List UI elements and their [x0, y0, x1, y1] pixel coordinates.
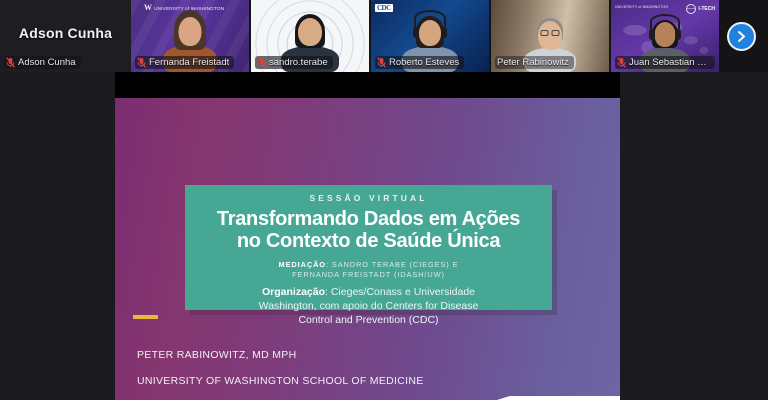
nametag-label: Roberto Esteves — [389, 57, 459, 68]
nametag: Juan Sebastian Osorio Vale... — [615, 56, 715, 69]
shared-screen-area: SESSÃO VIRTUAL Transformando Dados em Aç… — [0, 72, 768, 400]
slide-mediacao: MEDIAÇÃO: SANDRO TERABE (CIEGES) E FERNA… — [185, 260, 552, 280]
glasses-icon — [541, 30, 560, 36]
nametag-label: Peter Rabinowitz — [497, 57, 569, 68]
participant-filmstrip: Adson Cunha Adson Cunha W UNIVERSITY of … — [0, 0, 768, 72]
mic-muted-icon — [137, 57, 146, 68]
university-logo-text: UNIVERSITY of WASHINGTON — [615, 5, 668, 9]
accent-dash — [133, 315, 158, 319]
participant-tile-juan-sebastian-osorio[interactable]: I-TECH UNIVERSITY of WASHINGTON Juan Seb… — [611, 0, 719, 72]
slide-organizacao-line-3: Control and Prevention (CDC) — [185, 314, 552, 328]
nametag-label: Adson Cunha — [18, 57, 76, 68]
participant-tile-sandro-terabe[interactable]: sandro.terabe — [251, 0, 369, 72]
slide-kicker: SESSÃO VIRTUAL — [185, 193, 552, 203]
chevron-right-icon — [736, 30, 747, 43]
slide-title-line-1: Transformando Dados em Ações — [185, 208, 552, 230]
itech-logo-icon: I-TECH — [686, 4, 715, 14]
nametag: Adson Cunha — [4, 56, 81, 69]
nametag: Fernanda Freistadt — [135, 56, 234, 69]
participant-tile-fernanda-freistadt[interactable]: W UNIVERSITY of WASHINGTON Fernanda Frei… — [131, 0, 249, 72]
participant-tile-peter-rabinowitz[interactable]: Peter Rabinowitz — [491, 0, 609, 72]
headset-icon — [650, 14, 680, 29]
slide-byline: PETER RABINOWITZ, MD MPH UNIVERSITY OF W… — [137, 343, 424, 400]
itech-logo-text: I-TECH — [698, 6, 715, 12]
w-glyph-icon: W — [144, 4, 152, 12]
organizacao-text-1: : Cieges/Conass e Universidade — [325, 286, 475, 298]
filmstrip-next-page-button[interactable] — [727, 22, 756, 51]
shared-screen-letterbox — [115, 72, 620, 98]
self-view-tile[interactable]: Adson Cunha Adson Cunha — [0, 0, 131, 72]
slide-organizacao-line-1: Organização: Cieges/Conass e Universidad… — [185, 286, 552, 300]
presentation-slide[interactable]: SESSÃO VIRTUAL Transformando Dados em Aç… — [115, 98, 620, 400]
slide-title-line-2: no Contexto de Saúde Única — [185, 230, 552, 252]
slide-mediacao-line-1: MEDIAÇÃO: SANDRO TERABE (CIEGES) E — [185, 260, 552, 270]
self-view-display-name: Adson Cunha — [19, 25, 112, 41]
slide-affiliation: UNIVERSITY OF WASHINGTON SCHOOL OF MEDIC… — [137, 369, 424, 395]
nametag-label: sandro.terabe — [269, 57, 328, 68]
nametag: Roberto Esteves — [375, 56, 464, 69]
mic-muted-icon — [6, 57, 15, 68]
slide-footer-swoosh — [330, 396, 620, 400]
nametag: sandro.terabe — [255, 56, 333, 69]
nametag-label: Fernanda Freistadt — [149, 57, 229, 68]
mediacao-text-1: : SANDRO TERABE (CIEGES) E — [326, 260, 459, 269]
nametag: Peter Rabinowitz — [495, 56, 574, 69]
mic-muted-icon — [257, 57, 266, 68]
nametag-label: Juan Sebastian Osorio Vale... — [629, 57, 710, 68]
cdc-logo-icon: CDC — [375, 4, 393, 12]
mic-muted-icon — [617, 57, 626, 68]
participant-tile-roberto-esteves[interactable]: CDC Roberto Esteves — [371, 0, 489, 72]
mediacao-label: MEDIAÇÃO — [279, 260, 326, 269]
slide-organizacao-line-2: Washington, com apoio do Centers for Dis… — [185, 300, 552, 314]
slide-organizacao: Organização: Cieges/Conass e Universidad… — [185, 286, 552, 328]
headset-icon — [414, 10, 446, 27]
mic-muted-icon — [377, 57, 386, 68]
organizacao-label: Organização — [262, 286, 325, 298]
slide-title-card: SESSÃO VIRTUAL Transformando Dados em Aç… — [185, 185, 552, 310]
slide-title: Transformando Dados em Ações no Contexto… — [185, 208, 552, 253]
slide-mediacao-line-2: FERNANDA FREISTADT (IDASH/UW) — [185, 270, 552, 280]
slide-speaker: PETER RABINOWITZ, MD MPH — [137, 343, 424, 369]
